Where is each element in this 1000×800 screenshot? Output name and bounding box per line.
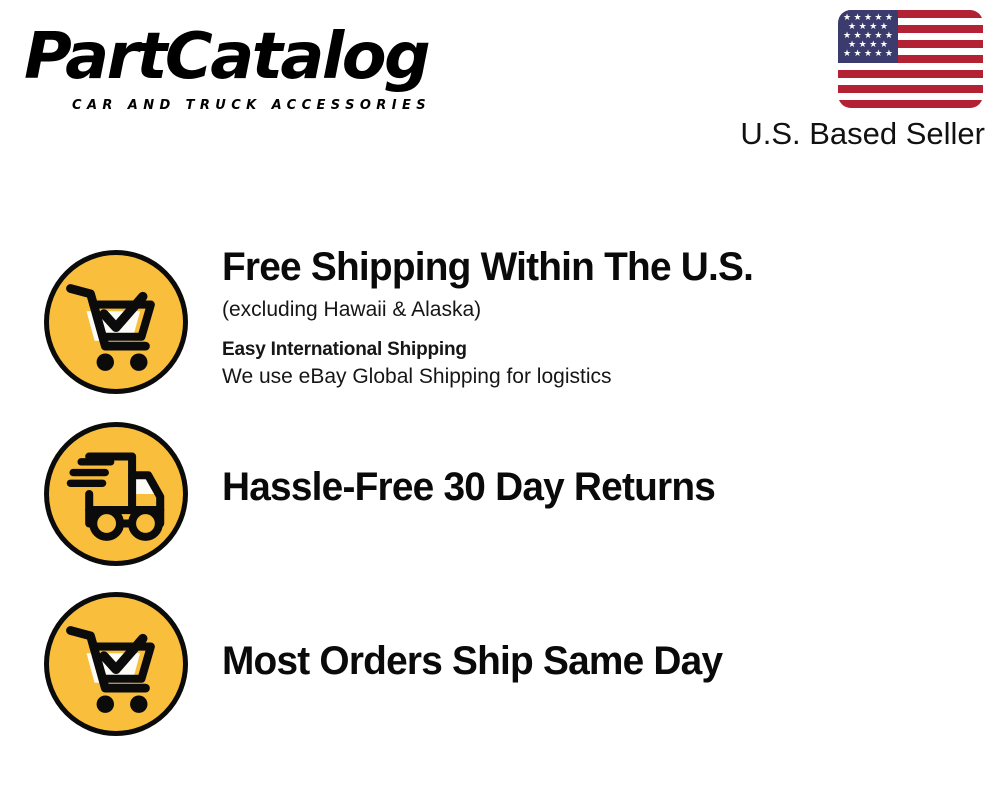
brand-tagline: CAR AND TRUCK ACCESSORIES xyxy=(72,98,431,114)
us-based-seller-label: U.S. Based Seller xyxy=(640,116,985,152)
brand-wordmark: PartCatalog xyxy=(24,22,428,92)
free-shipping-text-block: Free Shipping Within The U.S. (excluding… xyxy=(222,244,980,391)
shopping-cart-check-icon xyxy=(44,592,188,736)
feature-row-same-day-shipping: Most Orders Ship Same Day xyxy=(0,586,1000,746)
flag-stripe xyxy=(838,70,983,78)
flag-canton: ★★★★★ ★★★★ ★★★★★ ★★★★ ★★★★★ xyxy=(838,10,898,63)
feature-note: (excluding Hawaii & Alaska) xyxy=(222,296,980,324)
flag-stripe xyxy=(838,100,983,108)
same-day-text-block: Most Orders Ship Same Day xyxy=(222,638,980,684)
feature-headline: Most Orders Ship Same Day xyxy=(222,638,957,684)
feature-row-returns: Hassle-Free 30 Day Returns xyxy=(0,416,1000,571)
flag-stripe xyxy=(838,93,983,101)
feature-headline: Hassle-Free 30 Day Returns xyxy=(222,464,957,510)
flag-stripe xyxy=(838,63,983,71)
shopping-cart-check-icon xyxy=(44,250,188,394)
page-header: PartCatalog CAR AND TRUCK ACCESSORIES ★★… xyxy=(0,0,1000,165)
delivery-truck-icon xyxy=(44,422,188,566)
flag-stripe xyxy=(838,78,983,86)
feature-sub-detail: We use eBay Global Shipping for logistic… xyxy=(222,363,980,391)
flag-stripe xyxy=(838,85,983,93)
feature-sub-heading: Easy International Shipping xyxy=(222,337,980,363)
returns-text-block: Hassle-Free 30 Day Returns xyxy=(222,464,980,510)
feature-row-free-shipping: Free Shipping Within The U.S. (excluding… xyxy=(0,244,1000,409)
brand-logo[interactable]: PartCatalog CAR AND TRUCK ACCESSORIES xyxy=(24,22,494,117)
us-flag-icon: ★★★★★ ★★★★ ★★★★★ ★★★★ ★★★★★ xyxy=(838,10,983,108)
spacer xyxy=(222,324,980,337)
feature-headline: Free Shipping Within The U.S. xyxy=(222,244,957,290)
flag-star-row: ★★★★★ xyxy=(843,50,893,59)
